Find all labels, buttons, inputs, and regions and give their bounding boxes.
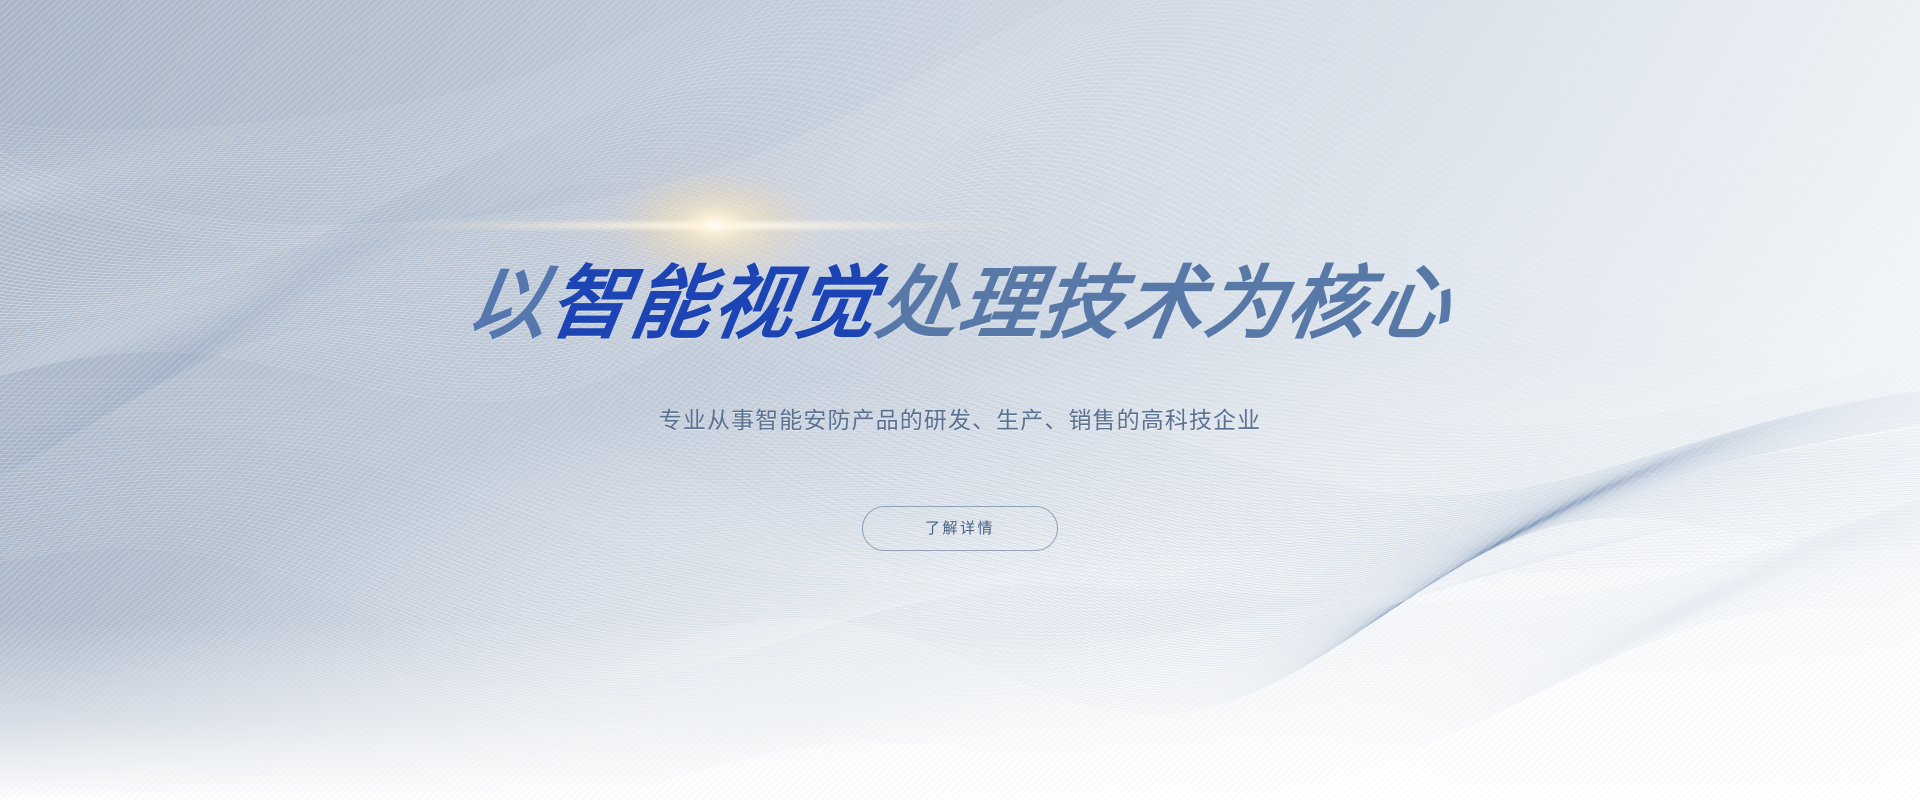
headline-segment-1: 以 <box>461 262 556 346</box>
page-subtitle: 专业从事智能安防产品的研发、生产、销售的高科技企业 <box>0 404 1920 436</box>
hero-banner: 以智能视觉处理技术为核心 专业从事智能安防产品的研发、生产、销售的高科技企业 了… <box>0 0 1920 800</box>
diagonal-texture-dark <box>0 0 1920 800</box>
headline-segment-2: 智能视觉 <box>543 262 884 346</box>
page-title: 以智能视觉处理技术为核心 <box>0 262 1920 346</box>
diagonal-texture-light <box>0 0 1920 800</box>
wave-background <box>0 0 1920 800</box>
headline-segment-3: 处理技术为核心 <box>871 262 1458 346</box>
learn-more-button[interactable]: 了解详情 <box>862 506 1058 551</box>
cta-container: 了解详情 <box>0 506 1920 551</box>
